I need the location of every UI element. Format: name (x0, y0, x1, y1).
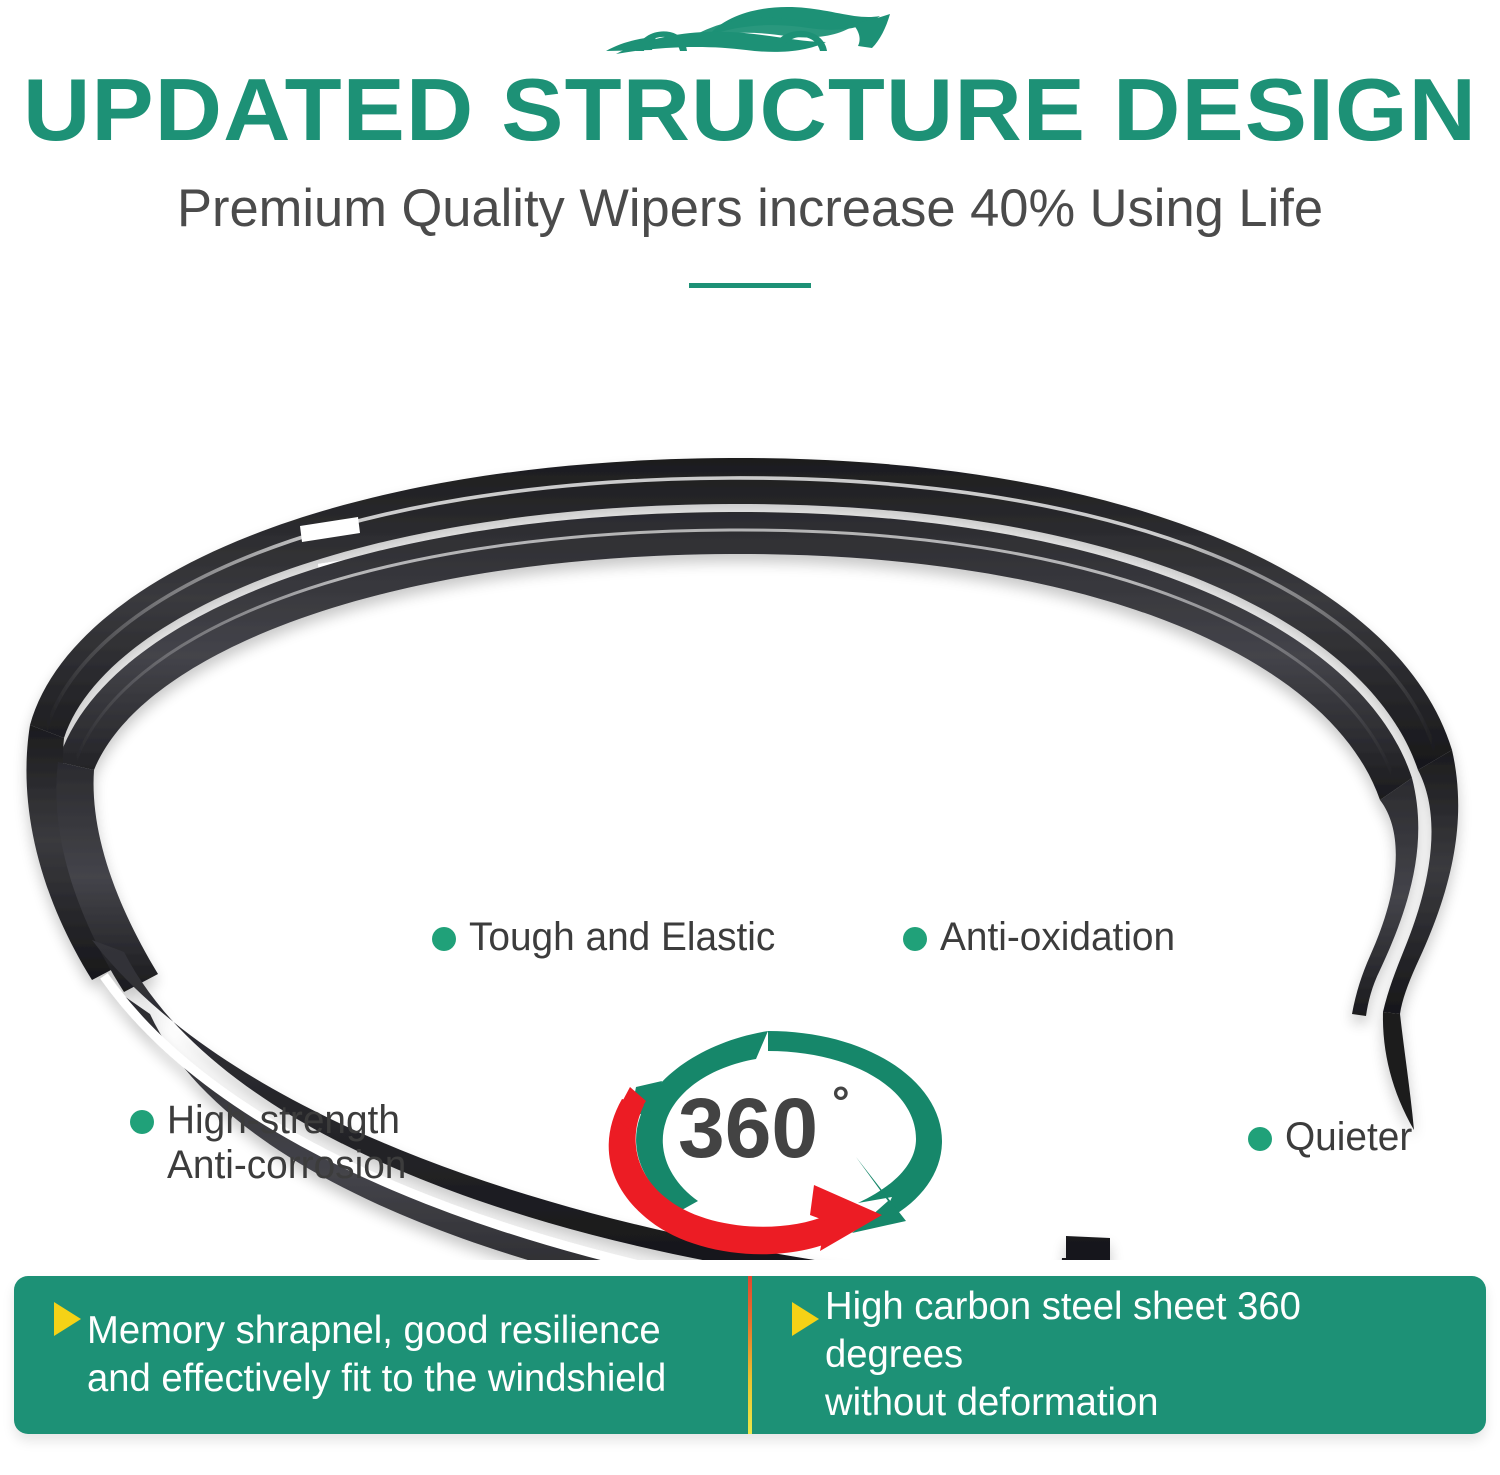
feature-high-strength-anti-corrosion: High-strength Anti-corrosion (130, 1098, 414, 1188)
title-divider-rule (689, 283, 811, 288)
bullet-dot-icon (432, 927, 456, 951)
triangle-bullet-icon (792, 1302, 819, 1336)
banner-text-line1: High carbon steel sheet 360 degrees (825, 1283, 1445, 1379)
banner-high-carbon-steel: High carbon steel sheet 360 degrees with… (752, 1276, 1486, 1434)
banner-text-line2: without deformation (825, 1379, 1445, 1427)
feature-anti-oxidation: Anti-oxidation (903, 915, 1182, 960)
360-degree-badge: 360 ° (570, 1025, 960, 1255)
page-header: UPDATED STRUCTURE DESIGN Premium Quality… (0, 0, 1500, 310)
feature-label: Quieter (1285, 1115, 1412, 1160)
feature-label-line1: High-strength (167, 1098, 406, 1143)
bullet-dot-icon (1248, 1127, 1272, 1151)
feature-quieter: Quieter (1248, 1115, 1416, 1160)
bullet-dot-icon (130, 1110, 154, 1134)
triangle-bullet-icon (54, 1302, 81, 1336)
feature-tough-and-elastic: Tough and Elastic (432, 915, 785, 960)
feature-label-line2: Anti-corrosion (167, 1143, 406, 1188)
bullet-dot-icon (903, 927, 927, 951)
banner-text-line2: and effectively fit to the windshield (87, 1355, 666, 1403)
page-title: UPDATED STRUCTURE DESIGN (0, 62, 1500, 158)
product-hero-section: Tough and Elastic Anti-oxidation High-st… (0, 330, 1500, 1260)
banner-text-line1: Memory shrapnel, good resilience (87, 1307, 666, 1355)
badge-degree-symbol: ° (832, 1078, 850, 1127)
page-subtitle: Premium Quality Wipers increase 40% Usin… (8, 178, 1493, 240)
badge-value-text: 360 (678, 1081, 818, 1175)
banner-memory-shrapnel: Memory shrapnel, good resilience and eff… (14, 1276, 748, 1434)
car-silhouette-icon (600, 2, 900, 64)
feature-label: Anti-oxidation (940, 915, 1175, 960)
feature-label: Tough and Elastic (469, 915, 775, 960)
bottom-banner-row: Memory shrapnel, good resilience and eff… (14, 1276, 1486, 1434)
